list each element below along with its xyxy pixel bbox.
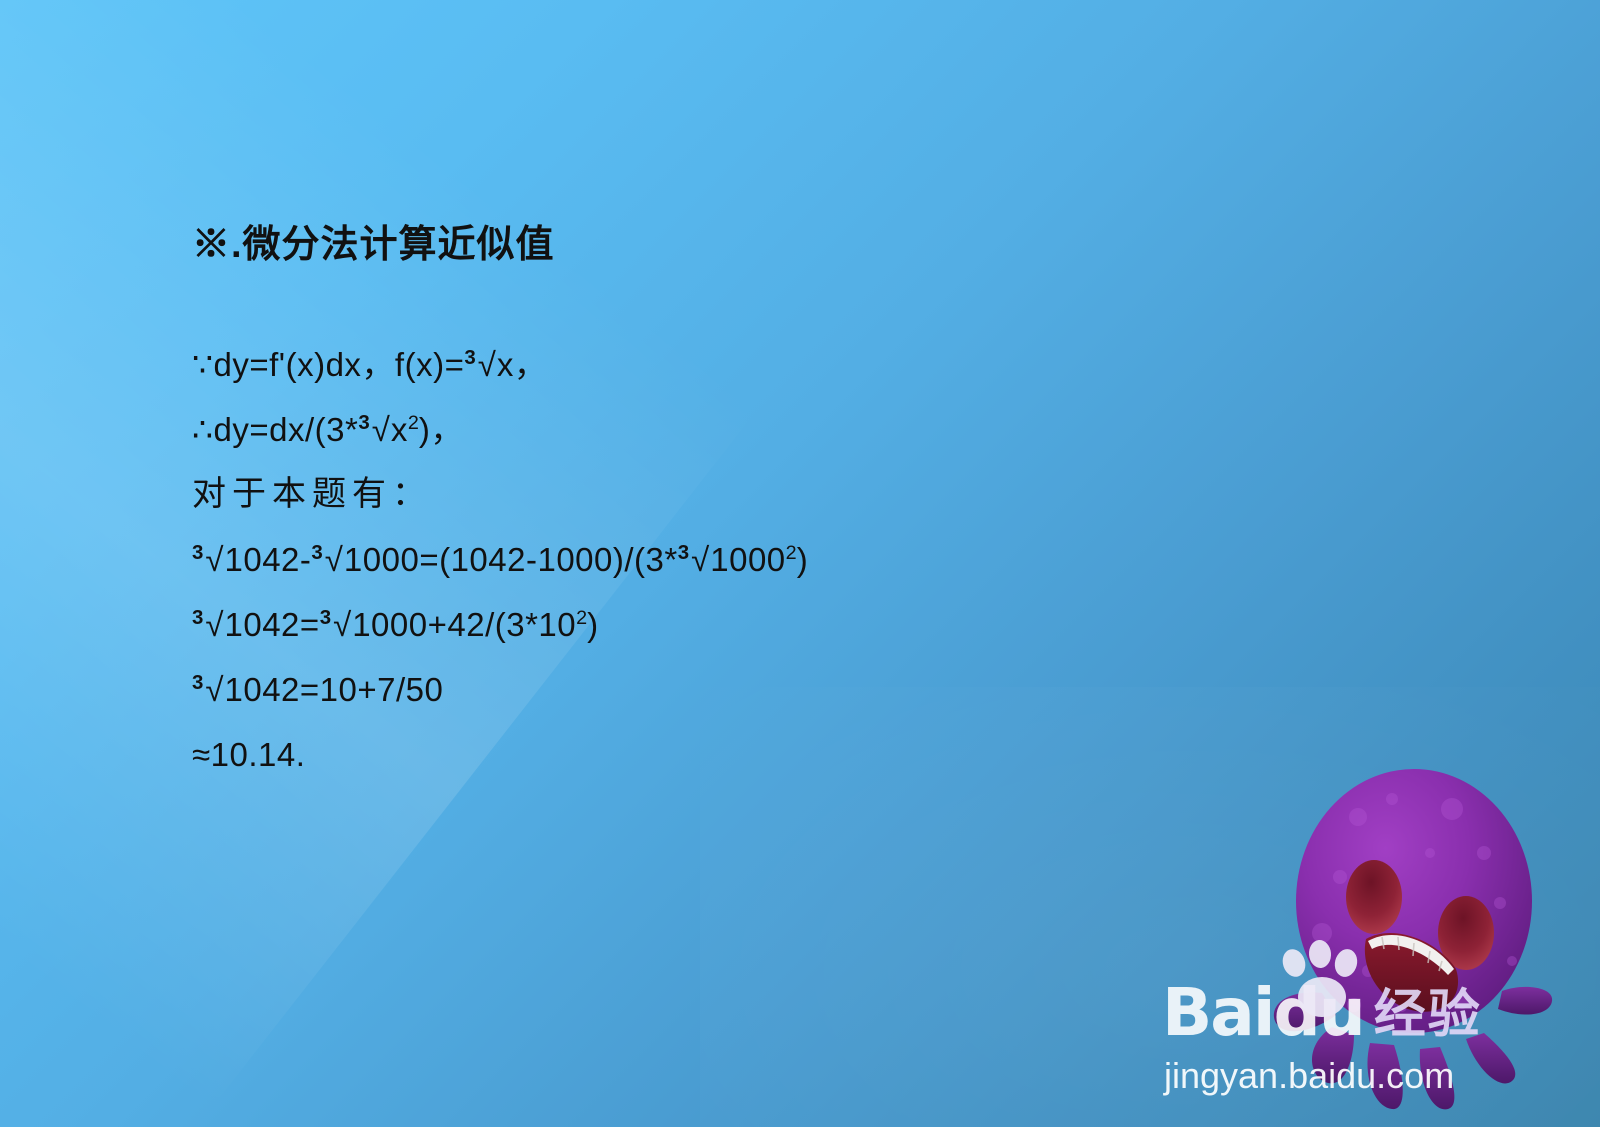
line1-prefix: ∵dy=f'(x)dx，f(x)= <box>192 346 464 383</box>
line2-suffix: )， <box>419 411 464 448</box>
baidu-url-text: jingyan.baidu.com <box>1164 1055 1454 1097</box>
line4-root-index-1: 3 <box>192 541 203 564</box>
line1-root-index: 3 <box>464 346 475 369</box>
line4-root-index-3: 3 <box>678 541 689 564</box>
paw-print-icon <box>1272 939 1376 1023</box>
line2-exponent: 2 <box>408 412 419 434</box>
formula-line-3: 对于本题有： <box>192 462 1372 527</box>
line4-part-a: 1042- <box>225 541 312 578</box>
line2-root-index: 3 <box>358 411 369 434</box>
formula-line-2: ∴dy=dx/(3*3√x2)， <box>192 397 1372 462</box>
radical-icon: √ <box>331 606 352 643</box>
octopus-tentacles <box>1274 987 1552 1109</box>
page-title: ※.微分法计算近似值 <box>192 222 1372 270</box>
baidu-brand-text: Baidu <box>1162 982 1364 1045</box>
radical-icon: √ <box>370 411 391 448</box>
line4-exponent: 2 <box>786 542 797 564</box>
baidu-logo: Baidu 经验 <box>1162 982 1482 1045</box>
radical-icon: √ <box>476 346 497 383</box>
radical-icon: √ <box>203 671 224 708</box>
formula-line-1: ∵dy=f'(x)dx，f(x)=3√x， <box>192 332 1372 397</box>
baidu-product-text: 经验 <box>1374 989 1482 1041</box>
slide-canvas: ※.微分法计算近似值 ∵dy=f'(x)dx，f(x)=3√x， ∴dy=dx/… <box>0 0 1600 1127</box>
slide-content: ※.微分法计算近似值 ∵dy=f'(x)dx，f(x)=3√x， ∴dy=dx/… <box>192 222 1372 787</box>
purple-octopus-mascot-icon <box>1262 757 1562 1117</box>
octopus-mouth <box>1365 933 1458 1012</box>
octopus-speckles <box>1312 793 1517 1012</box>
line5-root-index-2: 3 <box>320 606 331 629</box>
radical-icon: √ <box>323 541 344 578</box>
line5-root-index-1: 3 <box>192 606 203 629</box>
octopus-head <box>1296 769 1532 1033</box>
line1-suffix: x， <box>497 346 548 383</box>
line6-part-a: 1042=10+7/50 <box>225 671 444 708</box>
formula-line-4: 3√1042-3√1000=(1042-1000)/(3*3√10002) <box>192 527 1372 592</box>
radical-icon: √ <box>689 541 710 578</box>
radical-icon: √ <box>203 541 224 578</box>
octopus-left-eye <box>1346 860 1402 934</box>
line4-part-d: ) <box>797 541 809 578</box>
line5-part-c: ) <box>587 606 599 643</box>
line5-part-a: 1042= <box>225 606 320 643</box>
line4-part-c: 1000 <box>710 541 785 578</box>
radical-icon: √ <box>203 606 224 643</box>
line4-root-index-2: 3 <box>311 541 322 564</box>
line5-part-b: 1000+42/(3*10 <box>352 606 576 643</box>
line2-prefix: ∴dy=dx/(3* <box>192 411 358 448</box>
octopus-right-eye <box>1438 896 1494 970</box>
formula-line-6: 3√1042=10+7/50 <box>192 657 1372 722</box>
formula-line-7: ≈10.14. <box>192 722 1372 787</box>
formula-line-5: 3√1042=3√1000+42/(3*102) <box>192 592 1372 657</box>
baidu-watermark: Baidu 经验 jingyan.baidu.com <box>1154 749 1574 1119</box>
line5-exponent: 2 <box>576 607 587 629</box>
line6-root-index: 3 <box>192 671 203 694</box>
line2-radicand: x <box>391 411 408 448</box>
line4-part-b: 1000=(1042-1000)/(3* <box>344 541 678 578</box>
